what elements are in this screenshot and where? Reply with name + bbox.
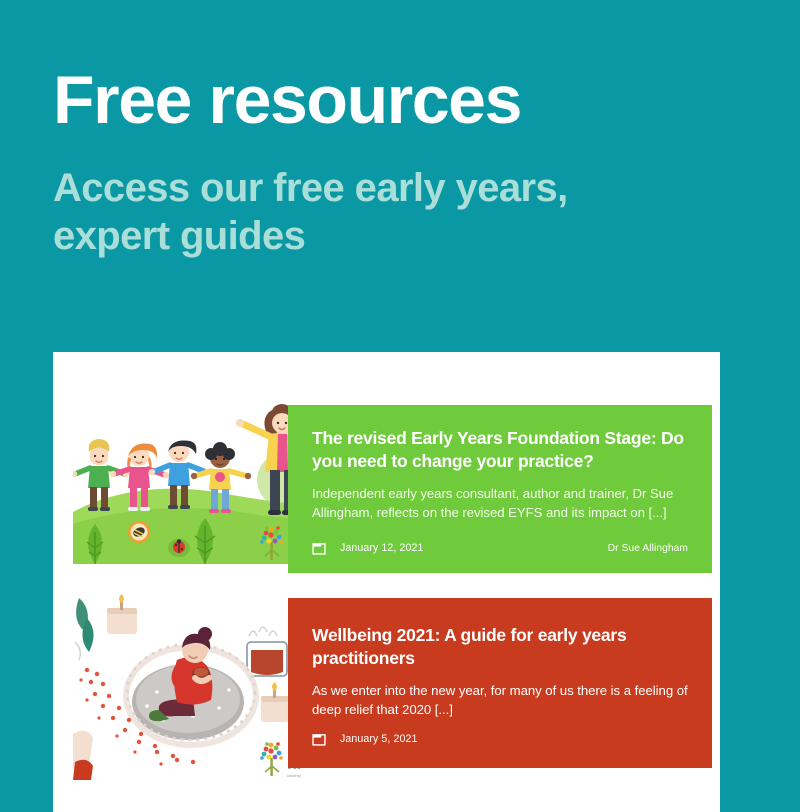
- resource-card[interactable]: ki kinderly The revised Early Years Foun…: [53, 372, 712, 573]
- kinderly-tree-logo-icon: [257, 738, 287, 778]
- card-meta: January 5, 2021: [312, 732, 688, 746]
- card-excerpt: Independent early years consultant, auth…: [312, 485, 688, 522]
- card-artwork-children-illustration: ki kinderly: [73, 384, 323, 564]
- card-content: The revised Early Years Foundation Stage…: [288, 405, 712, 573]
- calendar-icon: [312, 732, 326, 746]
- card-author: Dr Sue Allingham: [608, 543, 688, 554]
- page-root: Free resources Access our free early yea…: [0, 0, 800, 800]
- resource-card[interactable]: ki kinderly Wellbeing 2021: A guide for …: [53, 598, 712, 768]
- hero-section: Free resources Access our free early yea…: [53, 66, 733, 260]
- card-artwork-wellbeing-illustration: ki kinderly: [73, 584, 323, 780]
- card-title[interactable]: The revised Early Years Foundation Stage…: [312, 427, 688, 474]
- card-date: January 12, 2021: [340, 542, 423, 554]
- card-date: January 5, 2021: [340, 733, 417, 745]
- watermark-tagline: kinderly: [287, 774, 301, 778]
- calendar-icon: [312, 541, 326, 555]
- card-title[interactable]: Wellbeing 2021: A guide for early years …: [312, 624, 688, 671]
- resources-panel: ki kinderly The revised Early Years Foun…: [53, 352, 720, 812]
- card-meta: January 12, 2021 Dr Sue Allingham: [312, 541, 688, 555]
- card-content: Wellbeing 2021: A guide for early years …: [288, 598, 712, 768]
- kinderly-tree-logo-icon: [257, 522, 287, 562]
- page-subtitle: Access our free early years, expert guid…: [53, 164, 693, 260]
- page-title: Free resources: [53, 66, 733, 134]
- card-excerpt: As we enter into the new year, for many …: [312, 682, 688, 719]
